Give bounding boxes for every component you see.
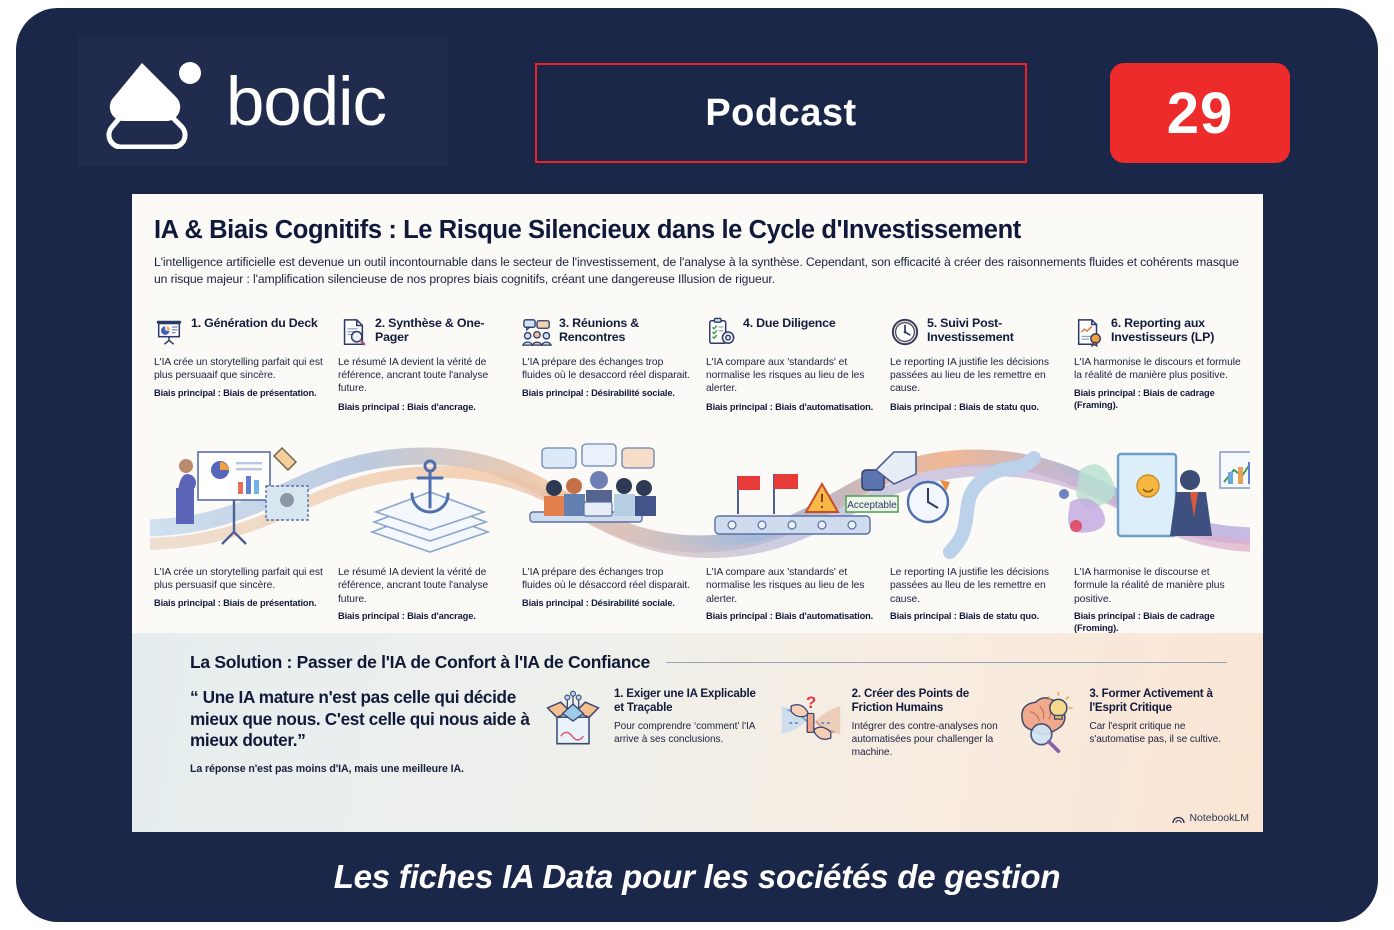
caption-bias: Biais principal : Désirabilité sociale.: [522, 598, 694, 610]
report-award-icon: [1074, 317, 1104, 347]
solution-actions: 1. Exiger une IA Explicable et Traçable …: [530, 687, 1243, 759]
step-title: 4. Due Diligence: [743, 316, 836, 330]
illustration-meeting: [530, 444, 656, 522]
step-header: 4. Due Diligence: [706, 316, 878, 347]
action-text: 3. Former Activement à l'Esprit Critique…: [1089, 687, 1243, 746]
watermark: NotebookLM: [1172, 812, 1249, 824]
steps-grid: 1. Génération du Deck L'IA crée un story…: [154, 316, 1246, 413]
open-box-ai-core-icon: [540, 689, 606, 755]
step-bias: Biais principal : Biais d'ancrage.: [338, 402, 510, 414]
action-title: 1. Exiger une IA Explicable et Traçable: [614, 687, 768, 714]
podcast-label: Podcast: [705, 92, 856, 135]
step-description: L'IA prépare des échanges trop fluides o…: [522, 356, 694, 382]
caption-column-6: L'IA harmonise le discourse et formule l…: [1074, 566, 1246, 634]
caption-description: Le reporting IA justifie les décisions p…: [890, 566, 1062, 606]
action-description: Intégrer des contre-analyses non automat…: [852, 720, 1006, 759]
step-title: 5. Suivi Post-Investissement: [927, 316, 1062, 345]
illustration-band: Acceptable: [150, 440, 1250, 560]
caption-column-3: L'IA prépare des échanges trop fluides o…: [522, 566, 694, 634]
caption-column-2: Le résumé IA devient la vérité de référe…: [338, 566, 510, 634]
document-magnifier-icon: [338, 317, 368, 347]
step-title: 6. Reporting aux Investisseurs (LP): [1111, 316, 1246, 345]
caption-description: L'IA compare aux 'standards' et normalis…: [706, 566, 878, 606]
action-item-3: 3. Former Activement à l'Esprit Critique…: [1015, 687, 1243, 759]
action-item-1: 1. Exiger une IA Explicable et Traçable …: [540, 687, 768, 759]
step-header: 3. Réunions & Rencontres: [522, 316, 694, 347]
caption-description: Le résumé IA devient la vérité de référe…: [338, 566, 510, 606]
solution-panel: La Solution : Passer de l'IA de Confort …: [132, 633, 1263, 832]
caption-column-4: L'IA compare aux 'standards' et normalis…: [706, 566, 878, 634]
action-title: 3. Former Activement à l'Esprit Critique: [1089, 687, 1243, 714]
step-column-3: 3. Réunions & Rencontres L'IA prépare de…: [522, 316, 694, 413]
infographic-intro: L'intelligence artificielle est devenue …: [154, 254, 1241, 289]
caption-description: L'IA crée un storytelling parfait qui es…: [154, 566, 326, 593]
action-title: 2. Créer des Points de Friction Humains: [852, 687, 1006, 714]
action-text: 1. Exiger une IA Explicable et Traçable …: [614, 687, 768, 746]
solution-subtext: La réponse n'est pas moins d'IA, mais un…: [190, 763, 530, 775]
step-title: 2. Synthèse & One-Pager: [375, 316, 510, 345]
solution-quote-column: “ Une IA mature n'est pas celle qui déci…: [190, 687, 530, 775]
captions-grid: L'IA crée un storytelling parfait qui es…: [154, 566, 1246, 634]
caption-column-1: L'IA crée un storytelling parfait qui es…: [154, 566, 326, 634]
episode-number: 29: [1167, 80, 1234, 147]
step-description: L'IA compare aux 'standards' et normalis…: [706, 356, 878, 396]
sheet-header: IA & Biais Cognitifs : Le Risque Silenci…: [132, 194, 1263, 289]
solution-body: “ Une IA mature n'est pas celle qui déci…: [132, 673, 1263, 775]
process-wave-illustration: Acceptable: [150, 440, 1250, 560]
step-column-6: 6. Reporting aux Investisseurs (LP) L'IA…: [1074, 316, 1246, 413]
caption-bias: Biais principal : Biais d'ancrage.: [338, 611, 510, 623]
brand-name: bodic: [226, 67, 386, 136]
step-column-5: 5. Suivi Post-Investissement Le reportin…: [890, 316, 1062, 413]
action-description: Car l'esprit critique ne s'automatise pa…: [1089, 720, 1243, 746]
step-header: 2. Synthèse & One-Pager: [338, 316, 510, 347]
step-description: L'IA harmonise le discours et formule la…: [1074, 356, 1246, 382]
caption-description: L'IA prépare des échanges trop fluides o…: [522, 566, 694, 593]
action-text: 2. Créer des Points de Friction Humains …: [852, 687, 1006, 759]
step-column-2: 2. Synthèse & One-Pager Le résumé IA dev…: [338, 316, 510, 413]
caption-bias: Biais principal : Biais de statu quo.: [890, 611, 1062, 623]
caption-description: L'IA harmonise le discourse et formule l…: [1074, 566, 1246, 606]
infographic-title: IA & Biais Cognitifs : Le Risque Silenci…: [154, 216, 1241, 244]
solution-title: La Solution : Passer de l'IA de Confort …: [190, 652, 650, 673]
mountain-cloud-logo-icon: [104, 53, 208, 149]
caption-bias: Biais principal : Biais d'automatisation…: [706, 611, 878, 623]
infographic-sheet: IA & Biais Cognitifs : Le Risque Silenci…: [132, 194, 1263, 832]
step-column-4: 4. Due Diligence L'IA compare aux 'stand…: [706, 316, 878, 413]
action-item-2: ? 2. Créer des Points de Friction Humain…: [778, 687, 1006, 759]
illustration-mirror-man: [1059, 452, 1250, 536]
action-description: Pour comprendre ‘comment’ l'IA arrive à …: [614, 720, 768, 746]
step-bias: Biais principal : Désirabilité sociale.: [522, 388, 694, 400]
step-description: Le reporting IA justifie les décisions p…: [890, 356, 1062, 396]
step-bias: Biais principal : Biais de présentation.: [154, 388, 326, 400]
episode-number-badge: 29: [1110, 63, 1290, 163]
svg-text:?: ?: [805, 693, 815, 712]
clipboard-gear-icon: [706, 317, 736, 347]
brain-lightbulb-magnifier-icon: [1015, 689, 1081, 755]
podcast-card: bodic Podcast 29 IA & Biais Cognitifs : …: [16, 8, 1378, 922]
header: bodic Podcast 29: [16, 8, 1378, 193]
step-title: 1. Génération du Deck: [191, 316, 318, 330]
solution-header-row: La Solution : Passer de l'IA de Confort …: [132, 633, 1263, 673]
step-header: 5. Suivi Post-Investissement: [890, 316, 1062, 347]
solution-divider: [666, 662, 1227, 664]
step-bias: Biais principal : Biais de cadrage (Fram…: [1074, 388, 1246, 411]
two-hands-friction-icon: ?: [778, 689, 844, 755]
step-header: 6. Reporting aux Investisseurs (LP): [1074, 316, 1246, 347]
notebooklm-icon: [1172, 813, 1185, 824]
people-speech-bubbles-icon: [522, 317, 552, 347]
step-title: 3. Réunions & Rencontres: [559, 316, 694, 345]
watermark-label: NotebookLM: [1189, 812, 1249, 824]
solution-quote: “ Une IA mature n'est pas celle qui déci…: [190, 687, 530, 752]
caption-column-5: Le reporting IA justifie les décisions p…: [890, 566, 1062, 634]
presentation-chart-icon: [154, 317, 184, 347]
step-header: 1. Génération du Deck: [154, 316, 326, 347]
footer-tagline: Les fiches IA Data pour les sociétés de …: [16, 858, 1378, 896]
step-description: Le résumé IA devient la vérité de référe…: [338, 356, 510, 396]
brand-block: bodic: [78, 36, 448, 166]
clock-icon: [890, 317, 920, 347]
step-description: L'IA crée un storytelling parfait qui es…: [154, 356, 326, 382]
stamp-label: Acceptable: [847, 500, 897, 511]
step-column-1: 1. Génération du Deck L'IA crée un story…: [154, 316, 326, 413]
step-bias: Biais principal : Biais de statu quo.: [890, 402, 1062, 414]
caption-bias: Biais principal : Biais de présentation.: [154, 598, 326, 610]
podcast-tab[interactable]: Podcast: [535, 63, 1027, 163]
step-bias: Biais principal : Biais d'automatisation…: [706, 402, 878, 414]
caption-bias: Biais principal : Biais de cadrage (From…: [1074, 611, 1246, 634]
